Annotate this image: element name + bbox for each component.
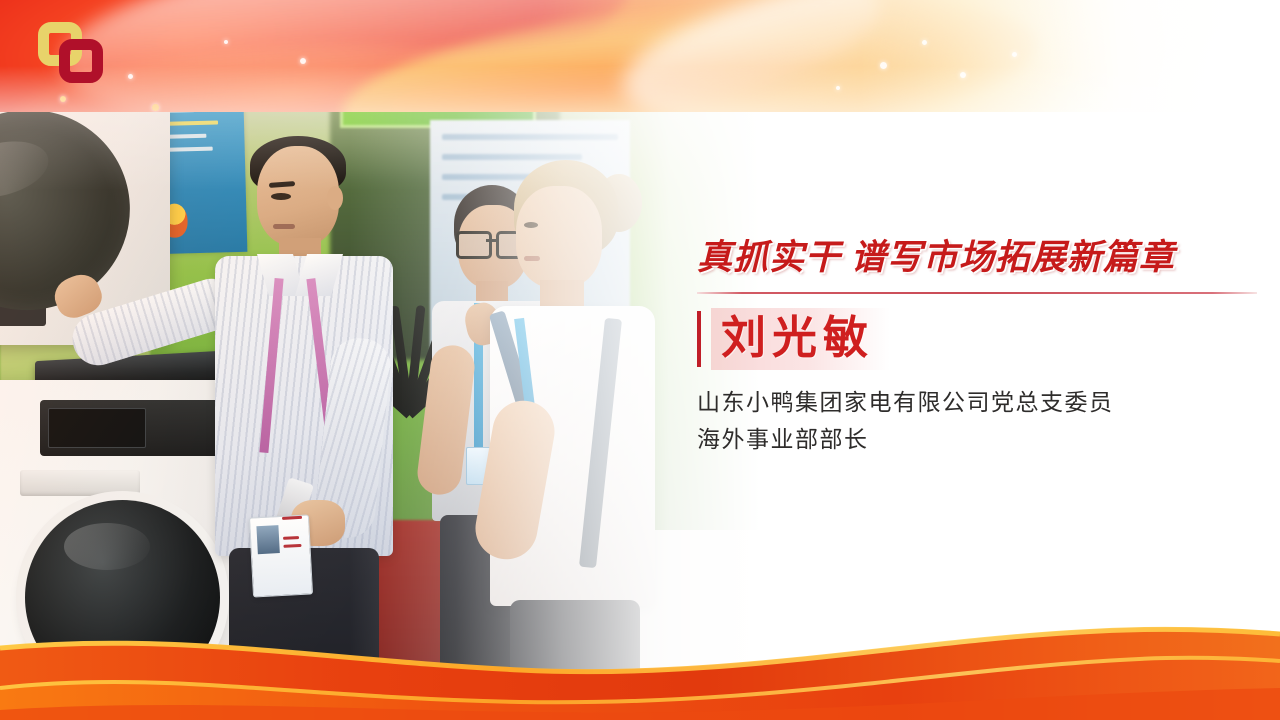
headline-divider: [697, 292, 1257, 294]
photo-canvas: [0, 0, 760, 720]
booth-green-sign: [340, 62, 536, 128]
poster-text-line: [156, 89, 226, 95]
headline-slogan: 真抓实干 谱写市场拓展新篇章: [697, 236, 1257, 280]
washer-door: [25, 500, 220, 695]
display-line: [442, 134, 618, 140]
washer-display-screen: [48, 408, 146, 448]
visitor-woman-blonde: [480, 160, 680, 680]
man-ear: [327, 186, 343, 210]
sparkle-dot: [836, 86, 840, 90]
person-name-row: 刘光敏: [697, 308, 1257, 370]
badge-text-line: [282, 516, 302, 520]
trade-show-photo: [0, 0, 760, 720]
woman-b-head: [516, 186, 602, 288]
slide-root: 真抓实干 谱写市场拓展新篇章 刘光敏 山东小鸭集团家电有限公司党总支委员 海外事…: [0, 0, 1280, 720]
sparkle-dot: [922, 40, 927, 45]
washer-detergent-drawer: [20, 470, 140, 496]
text-panel: 真抓实干 谱写市场拓展新篇章 刘光敏 山东小鸭集团家电有限公司党总支委员 海外事…: [697, 236, 1257, 458]
sparkle-dot: [960, 72, 966, 78]
badge-text-line: [283, 536, 299, 540]
man-mouth: [273, 224, 295, 229]
woman-b-mouth: [524, 256, 540, 261]
corporate-logo[interactable]: [38, 22, 106, 84]
logo-red-square-icon: [59, 39, 103, 83]
woman-b-pants: [510, 600, 640, 720]
person-title-line-2: 海外事业部部长: [697, 421, 1257, 458]
poster-text-line: [156, 76, 238, 82]
person-title-block: 山东小鸭集团家电有限公司党总支委员 海外事业部部长: [697, 384, 1257, 459]
person-title-line-1: 山东小鸭集团家电有限公司党总支委员: [697, 384, 1257, 421]
name-accent-bar: [697, 311, 701, 367]
sparkle-dot: [880, 62, 887, 69]
woman-b-eye: [524, 222, 538, 228]
sparkle-dot: [1012, 52, 1017, 57]
badge-text-line: [283, 544, 301, 548]
man-eye: [271, 193, 291, 200]
person-name: 刘光敏: [721, 316, 874, 361]
presenter-man: [195, 128, 410, 688]
name-highlight: 刘光敏: [711, 308, 890, 370]
banner-top-white-fade: [860, 0, 1280, 112]
badge-photo: [256, 525, 279, 554]
man-id-badge: [249, 514, 313, 597]
